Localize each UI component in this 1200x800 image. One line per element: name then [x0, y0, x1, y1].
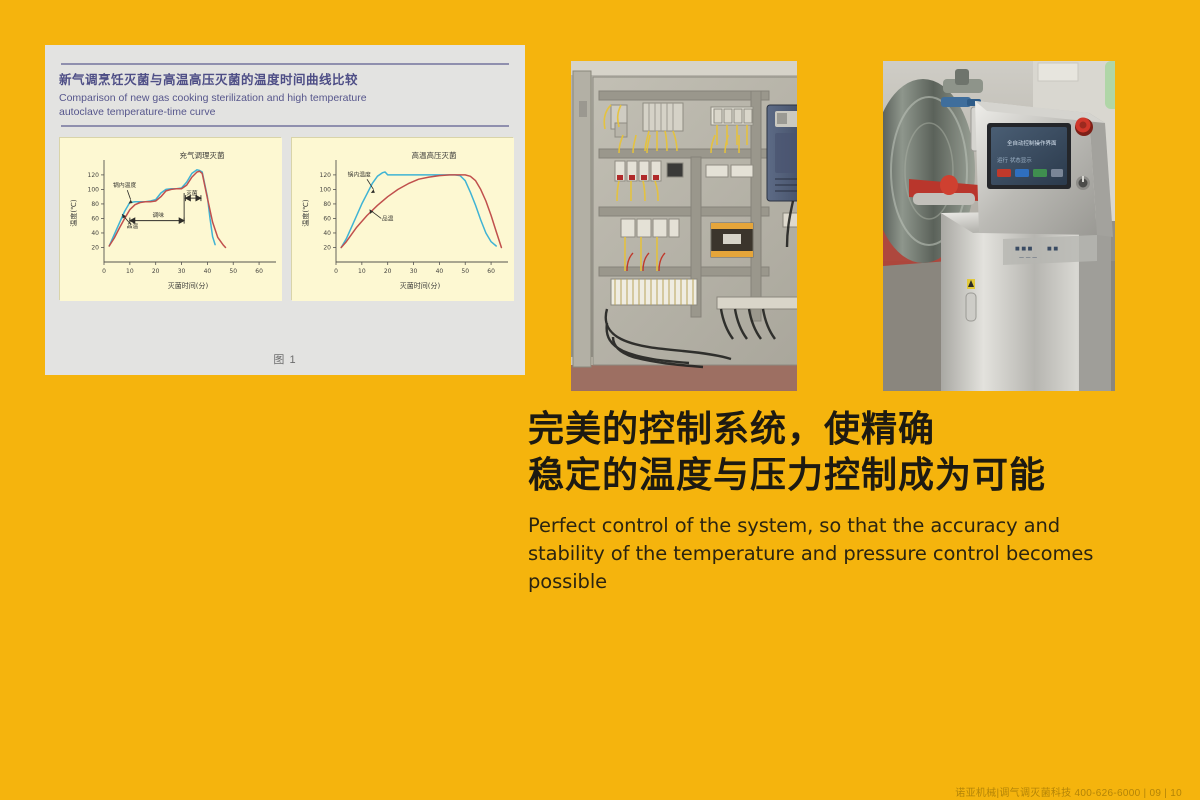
svg-text:60: 60 — [91, 216, 99, 223]
chart-ylabel: 温度(℃) — [69, 200, 78, 228]
svg-text:120: 120 — [88, 172, 100, 179]
svg-text:80: 80 — [91, 201, 99, 208]
headline-line-1: 完美的控制系统，使精确 — [528, 408, 935, 449]
chart-xlabel: 灭菌时间(分) — [400, 281, 441, 290]
svg-text:100: 100 — [320, 187, 332, 194]
chart-title: 高温高压灭菌 — [412, 150, 457, 160]
svg-text:30: 30 — [410, 268, 418, 275]
subheadline-line-1: Perfect control of the system, so that t… — [528, 512, 1148, 540]
photo-hmi-operator-console: ■ ■ ■ ■ ■ — — — 全自动控制操作界面 运行 状态显示 — [883, 61, 1115, 391]
chart-annotation: 调味 — [152, 211, 164, 219]
figure-caption: 图 1 — [45, 351, 525, 367]
svg-text:20: 20 — [91, 245, 99, 252]
svg-text:60: 60 — [255, 268, 263, 275]
brochure-page: 新气调烹饪灭菌与高温高压灭菌的温度时间曲线比较 Comparison of ne… — [0, 0, 1200, 800]
figure-title-en: Comparison of new gas cooking sterilizat… — [59, 92, 389, 120]
svg-text:40: 40 — [323, 230, 331, 237]
chart-annotation: 品温 — [382, 215, 394, 223]
page-headline: 完美的控制系统，使精确 稳定的温度与压力控制成为可能 — [528, 406, 1148, 498]
svg-text:50: 50 — [461, 268, 469, 275]
svg-text:30: 30 — [178, 268, 186, 275]
svg-text:0: 0 — [102, 268, 106, 275]
svg-text:0: 0 — [334, 268, 338, 275]
chart-annotation: 锅内温度 — [348, 171, 371, 179]
chart-annotation: 品温 — [127, 222, 139, 230]
figure-title-cn: 新气调烹饪灭菌与高温高压灭菌的温度时间曲线比较 — [59, 71, 511, 90]
chart-title: 充气调理灭菌 — [180, 150, 225, 160]
control-cabinet-illustration — [571, 61, 797, 391]
svg-text:全自动控制操作界面: 全自动控制操作界面 — [1007, 139, 1057, 147]
svg-text:— — —: — — — — [1019, 255, 1037, 261]
svg-text:40: 40 — [436, 268, 444, 275]
chart-ylabel: 温度(℃) — [301, 200, 310, 228]
page-subheadline: Perfect control of the system, so that t… — [528, 512, 1148, 595]
svg-text:60: 60 — [323, 216, 331, 223]
subheadline-line-2: stability of the temperature and pressur… — [528, 540, 1148, 595]
svg-text:■ ■: ■ ■ — [1047, 246, 1058, 252]
svg-text:60: 60 — [487, 268, 495, 275]
svg-text:■ ■ ■: ■ ■ ■ — [1015, 246, 1033, 252]
svg-text:50: 50 — [229, 268, 237, 275]
charts-row: 充气调理灭菌010203040506020406080100120灭菌时间(分)… — [59, 137, 511, 300]
svg-text:10: 10 — [358, 268, 366, 275]
svg-text:20: 20 — [323, 245, 331, 252]
headline-line-2: 稳定的温度与压力控制成为可能 — [528, 452, 1148, 498]
figure-panel: 新气调烹饪灭菌与高温高压灭菌的温度时间曲线比较 Comparison of ne… — [45, 45, 525, 375]
headline-block: 完美的控制系统，使精确 稳定的温度与压力控制成为可能 Perfect contr… — [528, 406, 1148, 595]
chart-gas-cooking-sterilization: 充气调理灭菌010203040506020406080100120灭菌时间(分)… — [59, 137, 281, 300]
media-strip: 新气调烹饪灭菌与高温高压灭菌的温度时间曲线比较 Comparison of ne… — [45, 45, 1155, 375]
chart-annotation: 锅内温度 — [113, 182, 136, 190]
svg-text:40: 40 — [91, 230, 99, 237]
svg-text:20: 20 — [384, 268, 392, 275]
figure-rule-bottom — [61, 125, 509, 127]
svg-text:20: 20 — [152, 268, 160, 275]
page-footer: 诺亚机械|调气调灭菌科技 400-626-6000 | 09 | 10 — [955, 784, 1182, 799]
chart-svg-1: 高温高压灭菌010203040506020406080100120灭菌时间(分)… — [292, 138, 514, 301]
chart-svg-0: 充气调理灭菌010203040506020406080100120灭菌时间(分)… — [60, 138, 282, 301]
svg-text:40: 40 — [204, 268, 212, 275]
svg-text:10: 10 — [126, 268, 134, 275]
photo-electrical-control-cabinet: Open electrical control cabinet with PLC… — [571, 61, 797, 391]
svg-text:120: 120 — [320, 172, 332, 179]
figure-rule-top — [61, 63, 509, 65]
svg-text:80: 80 — [323, 201, 331, 208]
svg-text:运行 状态显示: 运行 状态显示 — [997, 156, 1032, 164]
svg-text:100: 100 — [88, 187, 100, 194]
chart-xlabel: 灭菌时间(分) — [168, 281, 209, 290]
figure-title-en-line1: Comparison of new gas cooking sterilizat… — [59, 92, 307, 104]
operator-console-illustration: ■ ■ ■ ■ ■ — — — 全自动控制操作界面 运行 状态显示 — [883, 61, 1115, 391]
chart-high-temp-autoclave: 高温高压灭菌010203040506020406080100120灭菌时间(分)… — [291, 137, 513, 300]
